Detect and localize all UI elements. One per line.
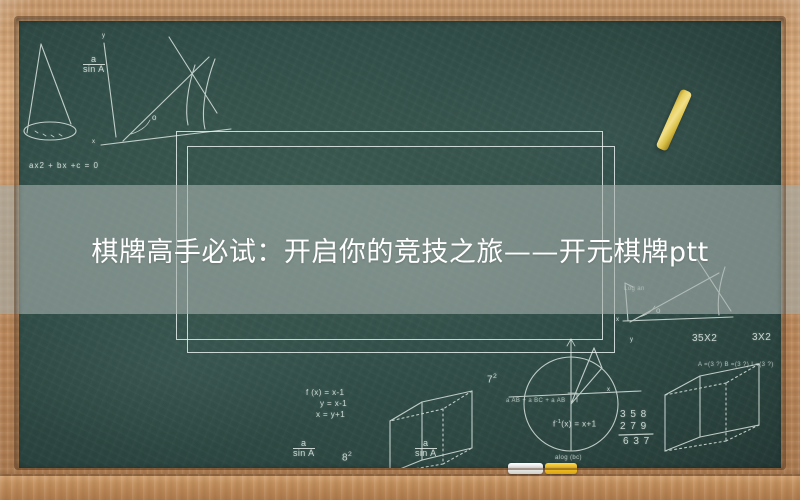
frame-inner-shadow — [16, 18, 784, 468]
blackboard-banner: a sin A y x o ax2 + bx +c = 0 o x f (x) … — [0, 0, 800, 500]
tray-wood-grain — [0, 474, 800, 500]
chalk-tray — [0, 474, 800, 500]
